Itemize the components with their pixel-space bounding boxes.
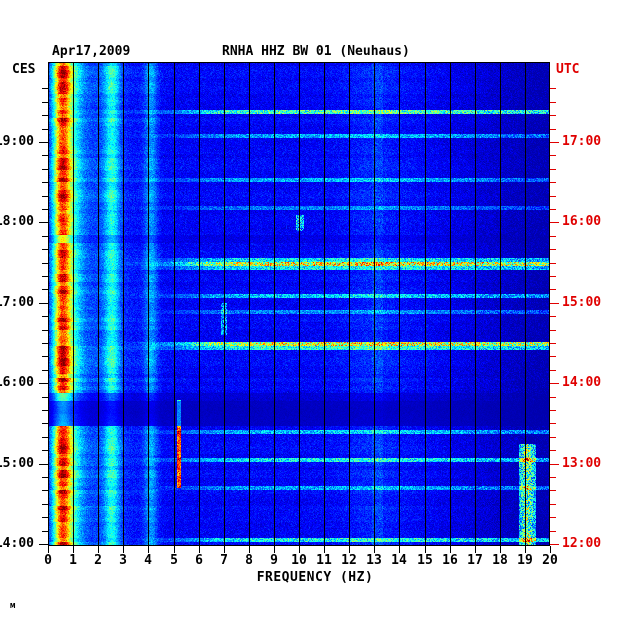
- x-tick-label-20: 20: [538, 553, 562, 568]
- x-tick-label-15: 15: [413, 553, 437, 568]
- x-tick-0: [48, 546, 49, 553]
- left-axis-label: CES: [12, 62, 35, 77]
- x-tick-label-7: 7: [212, 553, 236, 568]
- x-tick-label-1: 1: [61, 553, 85, 568]
- left-tick-minor: [42, 263, 48, 264]
- x-tick-17: [475, 546, 476, 553]
- left-tick-minor: [42, 343, 48, 344]
- right-tick-minor: [550, 343, 556, 344]
- left-tick-label-19:00: 19:00: [0, 134, 34, 149]
- x-tick-5: [174, 546, 175, 553]
- left-tick-minor: [42, 450, 48, 451]
- spectrogram-canvas[interactable]: [48, 62, 550, 546]
- right-tick-minor: [550, 209, 556, 210]
- right-tick-minor: [550, 531, 556, 532]
- right-tick-minor: [550, 397, 556, 398]
- right-tick-minor: [550, 236, 556, 237]
- right-tick-minor: [550, 289, 556, 290]
- x-tick-label-6: 6: [187, 553, 211, 568]
- left-tick-minor: [42, 504, 48, 505]
- right-tick-minor: [550, 263, 556, 264]
- x-axis-title: FREQUENCY (HZ): [0, 570, 630, 585]
- left-tick-major-17:00: [39, 303, 48, 304]
- right-tick-minor: [550, 88, 556, 89]
- x-tick-label-0: 0: [36, 553, 60, 568]
- right-tick-major-17:00: [550, 142, 559, 143]
- x-tick-label-5: 5: [162, 553, 186, 568]
- right-tick-minor: [550, 370, 556, 371]
- left-tick-minor: [42, 115, 48, 116]
- right-tick-major-15:00: [550, 303, 559, 304]
- x-tick-6: [199, 546, 200, 553]
- right-tick-label-12:00: 12:00: [562, 536, 601, 551]
- left-tick-minor: [42, 169, 48, 170]
- right-tick-major-14:00: [550, 383, 559, 384]
- x-tick-20: [550, 546, 551, 553]
- left-tick-label-15:00: 15:00: [0, 456, 34, 471]
- right-tick-major-16:00: [550, 222, 559, 223]
- left-tick-minor: [42, 370, 48, 371]
- left-tick-label-14:00: 14:00: [0, 536, 34, 551]
- x-tick-8: [249, 546, 250, 553]
- left-tick-minor: [42, 397, 48, 398]
- right-tick-minor: [550, 129, 556, 130]
- right-tick-label-17:00: 17:00: [562, 134, 601, 149]
- right-axis-label: UTC: [556, 62, 579, 77]
- left-tick-minor: [42, 249, 48, 250]
- x-tick-label-17: 17: [463, 553, 487, 568]
- x-tick-19: [525, 546, 526, 553]
- left-tick-minor: [42, 102, 48, 103]
- x-tick-label-3: 3: [111, 553, 135, 568]
- right-tick-minor: [550, 490, 556, 491]
- x-tick-label-9: 9: [262, 553, 286, 568]
- right-tick-minor: [550, 356, 556, 357]
- x-tick-7: [224, 546, 225, 553]
- x-tick-label-19: 19: [513, 553, 537, 568]
- right-tick-minor: [550, 115, 556, 116]
- right-tick-label-14:00: 14:00: [562, 375, 601, 390]
- left-tick-minor: [42, 289, 48, 290]
- right-tick-label-16:00: 16:00: [562, 214, 601, 229]
- x-tick-18: [500, 546, 501, 553]
- right-tick-minor: [550, 196, 556, 197]
- right-tick-minor: [550, 155, 556, 156]
- left-tick-minor: [42, 517, 48, 518]
- stray-glyph: м: [10, 601, 15, 611]
- left-tick-major-18:00: [39, 222, 48, 223]
- x-tick-label-12: 12: [337, 553, 361, 568]
- x-tick-label-8: 8: [237, 553, 261, 568]
- right-tick-minor: [550, 102, 556, 103]
- right-tick-minor: [550, 249, 556, 250]
- x-tick-3: [123, 546, 124, 553]
- x-tick-2: [98, 546, 99, 553]
- x-tick-16: [450, 546, 451, 553]
- left-tick-major-14:00: [39, 544, 48, 545]
- right-tick-minor: [550, 477, 556, 478]
- spectrogram-page: Apr17,2009 RNHA HHZ BW 01 (Neuhaus) CES …: [0, 0, 630, 624]
- x-tick-label-14: 14: [387, 553, 411, 568]
- right-tick-minor: [550, 182, 556, 183]
- left-tick-major-19:00: [39, 142, 48, 143]
- right-tick-minor: [550, 504, 556, 505]
- left-tick-minor: [42, 129, 48, 130]
- right-tick-minor: [550, 437, 556, 438]
- left-tick-minor: [42, 423, 48, 424]
- x-tick-10: [299, 546, 300, 553]
- x-tick-label-13: 13: [362, 553, 386, 568]
- x-tick-11: [324, 546, 325, 553]
- right-tick-minor: [550, 517, 556, 518]
- x-tick-label-10: 10: [287, 553, 311, 568]
- x-tick-1: [73, 546, 74, 553]
- x-tick-9: [274, 546, 275, 553]
- left-tick-minor: [42, 410, 48, 411]
- right-tick-minor: [550, 450, 556, 451]
- x-tick-13: [374, 546, 375, 553]
- left-tick-minor: [42, 182, 48, 183]
- x-tick-label-11: 11: [312, 553, 336, 568]
- x-tick-12: [349, 546, 350, 553]
- right-tick-minor: [550, 276, 556, 277]
- right-tick-minor: [550, 169, 556, 170]
- left-tick-minor: [42, 88, 48, 89]
- left-tick-label-17:00: 17:00: [0, 295, 34, 310]
- left-tick-label-16:00: 16:00: [0, 375, 34, 390]
- right-tick-major-13:00: [550, 464, 559, 465]
- left-tick-minor: [42, 209, 48, 210]
- spectrogram-plot[interactable]: [48, 62, 550, 546]
- right-tick-minor: [550, 410, 556, 411]
- left-tick-minor: [42, 316, 48, 317]
- left-tick-minor: [42, 490, 48, 491]
- left-tick-minor: [42, 236, 48, 237]
- right-tick-label-13:00: 13:00: [562, 456, 601, 471]
- x-tick-label-2: 2: [86, 553, 110, 568]
- station-title: RNHA HHZ BW 01 (Neuhaus): [222, 44, 410, 59]
- left-tick-label-18:00: 18:00: [0, 214, 34, 229]
- x-tick-label-16: 16: [438, 553, 462, 568]
- right-tick-minor: [550, 423, 556, 424]
- x-tick-15: [425, 546, 426, 553]
- left-tick-minor: [42, 356, 48, 357]
- x-tick-4: [148, 546, 149, 553]
- left-tick-minor: [42, 477, 48, 478]
- right-tick-major-12:00: [550, 544, 559, 545]
- date-title: Apr17,2009: [52, 44, 130, 59]
- left-tick-major-16:00: [39, 383, 48, 384]
- right-tick-label-15:00: 15:00: [562, 295, 601, 310]
- left-tick-minor: [42, 437, 48, 438]
- left-tick-major-15:00: [39, 464, 48, 465]
- left-tick-minor: [42, 196, 48, 197]
- x-tick-label-18: 18: [488, 553, 512, 568]
- right-tick-minor: [550, 330, 556, 331]
- right-tick-minor: [550, 316, 556, 317]
- left-tick-minor: [42, 276, 48, 277]
- left-tick-minor: [42, 330, 48, 331]
- left-tick-minor: [42, 155, 48, 156]
- x-tick-14: [399, 546, 400, 553]
- x-tick-label-4: 4: [136, 553, 160, 568]
- left-tick-minor: [42, 531, 48, 532]
